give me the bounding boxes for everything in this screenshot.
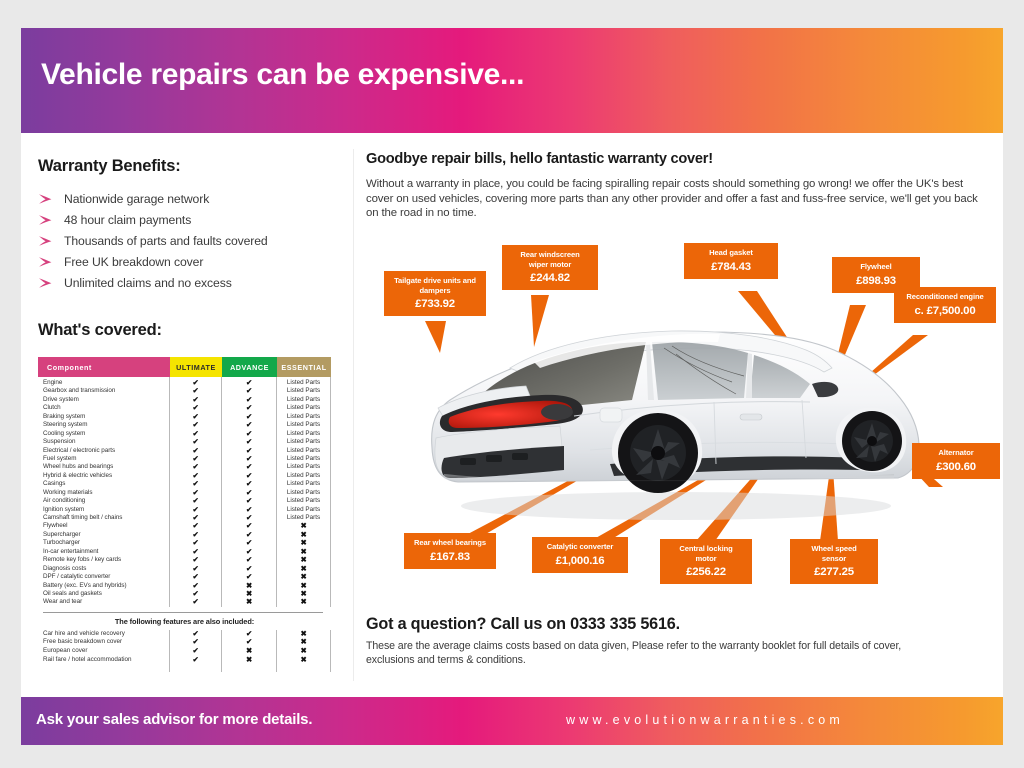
benefit-label: Unlimited claims and no excess <box>64 276 232 290</box>
callout-label: Rear windscreen wiper motor <box>511 250 589 269</box>
coverage-mark-essential: Listed Parts <box>277 472 330 480</box>
component-name: Suspension <box>38 438 169 446</box>
callout-price: £256.22 <box>669 566 743 578</box>
callout-label: Reconditioned engine <box>903 292 987 302</box>
coverage-mark-essential: Listed Parts <box>277 387 330 395</box>
extra-feature-name: Rail fare / hotel accommodation <box>38 656 169 665</box>
benefit-item-1: 48 hour claim payments <box>38 209 338 230</box>
callout-reconditioned-engine[interactable]: Reconditioned engine c. £7,500.00 <box>894 287 996 323</box>
table-header-row: Component ULTIMATE ADVANCE ESSENTIAL <box>38 357 331 377</box>
callout-label: Flywheel <box>841 262 911 272</box>
coverage-mark-essential: Listed Parts <box>277 438 330 446</box>
callout-price: £1,000.16 <box>541 555 619 567</box>
callout-label: Catalytic converter <box>541 542 619 552</box>
component-name: Working materials <box>38 489 169 497</box>
component-name: Braking system <box>38 413 169 421</box>
extra-features-block: The following features are also included… <box>38 612 331 672</box>
component-name: Wheel hubs and bearings <box>38 463 169 471</box>
callout-price: £898.93 <box>841 275 911 287</box>
left-column: Warranty Benefits: Nationwide garage net… <box>38 157 338 340</box>
component-name: Diagnosis costs <box>38 565 169 573</box>
column-header-component: Component <box>38 357 170 377</box>
extra-features-title: The following features are also included… <box>38 613 331 630</box>
extra-ultimate-column: ✔✔✔✔ <box>170 630 222 672</box>
component-name: Electrical / electronic parts <box>38 447 169 455</box>
benefit-label: Nationwide garage network <box>64 192 209 206</box>
page-title: Vehicle repairs can be expensive... <box>41 58 524 92</box>
extra-coverage-mark-advance: ✖ <box>222 656 276 665</box>
coverage-mark-advance: ✖ <box>222 598 276 606</box>
coverage-mark-essential: Listed Parts <box>277 430 330 438</box>
coverage-mark-essential: Listed Parts <box>277 447 330 455</box>
column-header-ultimate: ULTIMATE <box>170 357 222 377</box>
component-name: Clutch <box>38 404 169 412</box>
component-name: Remote key fobs / key cards <box>38 556 169 564</box>
benefit-label: 48 hour claim payments <box>64 213 191 227</box>
component-name: DPF / catalytic converter <box>38 573 169 581</box>
extra-coverage-mark-essential: ✖ <box>277 656 330 665</box>
component-name: Hybrid & electric vehicles <box>38 472 169 480</box>
right-column: Goodbye repair bills, hello fantastic wa… <box>366 151 986 221</box>
component-name: Oil seals and gaskets <box>38 590 169 598</box>
coverage-mark-essential: Listed Parts <box>277 463 330 471</box>
vertical-divider <box>353 149 354 681</box>
benefit-item-4: Unlimited claims and no excess <box>38 272 338 293</box>
callout-price: c. £7,500.00 <box>903 305 987 317</box>
advance-marks-column: ✔✔✔✔✔✔✔✔✔✔✔✔✔✔✔✔✔✔✔✔✔✔✔✔✖✖✖ <box>222 377 277 607</box>
callout-label: Wheel speed sensor <box>799 544 869 563</box>
car-parts-diagram: Tailgate drive units and dampers £733.92… <box>366 243 1004 603</box>
essential-marks-column: Listed PartsListed PartsListed PartsList… <box>277 377 331 607</box>
right-heading: Goodbye repair bills, hello fantastic wa… <box>366 151 986 167</box>
component-name: Camshaft timing belt / chains <box>38 514 169 522</box>
column-header-advance: ADVANCE <box>222 357 277 377</box>
component-name-column: EngineGearbox and transmissionDrive syst… <box>38 377 170 607</box>
extra-essential-column: ✖✖✖✖ <box>277 630 331 672</box>
poster-root: Vehicle repairs can be expensive... Warr… <box>0 0 1024 768</box>
callout-price: £733.92 <box>393 298 477 310</box>
callout-alternator[interactable]: Alternator £300.60 <box>912 443 1000 479</box>
callout-tailgate[interactable]: Tailgate drive units and dampers £733.92 <box>384 271 486 316</box>
coverage-mark-essential: Listed Parts <box>277 480 330 488</box>
benefit-label: Thousands of parts and faults covered <box>64 234 268 248</box>
extra-feature-name: Free basic breakdown cover <box>38 638 169 647</box>
callout-label: Head gasket <box>693 248 769 258</box>
coverage-mark-essential: Listed Parts <box>277 404 330 412</box>
callout-central-locking-motor[interactable]: Central locking motor £256.22 <box>660 539 752 584</box>
callout-price: £244.82 <box>511 272 589 284</box>
callout-label: Tailgate drive units and dampers <box>393 276 477 295</box>
extra-features-body: Car hire and vehicle recoveryFree basic … <box>38 630 331 672</box>
benefit-item-2: Thousands of parts and faults covered <box>38 230 338 251</box>
chevron-right-icon <box>38 277 53 289</box>
extra-feature-name: European cover <box>38 647 169 656</box>
callout-price: £300.60 <box>921 461 991 473</box>
coverage-mark-essential: Listed Parts <box>277 455 330 463</box>
component-name: Flywheel <box>38 522 169 530</box>
whats-covered-title: What's covered: <box>38 321 338 340</box>
coverage-mark-essential: Listed Parts <box>277 497 330 505</box>
callout-head-gasket[interactable]: Head gasket £784.43 <box>684 243 778 279</box>
benefit-item-3: Free UK breakdown cover <box>38 251 338 272</box>
extra-advance-column: ✔✔✖✖ <box>222 630 277 672</box>
callout-price: £784.43 <box>693 261 769 273</box>
component-name: Drive system <box>38 396 169 404</box>
car-illustration <box>414 298 934 533</box>
coverage-mark-essential: Listed Parts <box>277 489 330 497</box>
extra-coverage-mark-ultimate: ✔ <box>170 656 221 665</box>
component-name: Fuel system <box>38 455 169 463</box>
content-panel: Warranty Benefits: Nationwide garage net… <box>21 133 1003 697</box>
extra-feature-name: Car hire and vehicle recovery <box>38 630 169 639</box>
chevron-right-icon <box>38 235 53 247</box>
right-intro-paragraph: Without a warranty in place, you could b… <box>366 177 986 221</box>
chevron-right-icon <box>38 214 53 226</box>
component-name: Steering system <box>38 421 169 429</box>
ultimate-marks-column: ✔✔✔✔✔✔✔✔✔✔✔✔✔✔✔✔✔✔✔✔✔✔✔✔✔✔✔ <box>170 377 222 607</box>
benefit-label: Free UK breakdown cover <box>64 255 203 269</box>
component-name: Turbocharger <box>38 539 169 547</box>
coverage-mark-ultimate: ✔ <box>170 598 221 606</box>
coverage-mark-essential: Listed Parts <box>277 421 330 429</box>
coverage-table: Component ULTIMATE ADVANCE ESSENTIAL Eng… <box>38 357 331 672</box>
component-name: Cooling system <box>38 430 169 438</box>
benefits-list: Nationwide garage network48 hour claim p… <box>38 188 338 293</box>
cta-heading: Got a question? Call us on 0333 335 5616… <box>366 615 680 634</box>
callout-rear-windscreen-wiper-motor[interactable]: Rear windscreen wiper motor £244.82 <box>502 245 598 290</box>
component-name: Air conditioning <box>38 497 169 505</box>
footer-website-url[interactable]: www.evolutionwarranties.com <box>566 713 844 727</box>
callout-price: £277.25 <box>799 566 869 578</box>
coverage-mark-essential: Listed Parts <box>277 506 330 514</box>
component-name: Engine <box>38 379 169 387</box>
callout-label: Rear wheel bearings <box>413 538 487 548</box>
benefit-item-0: Nationwide garage network <box>38 188 338 209</box>
callout-price: £167.83 <box>413 551 487 563</box>
column-header-essential: ESSENTIAL <box>277 357 331 377</box>
cta-disclaimer: These are the average claims costs based… <box>366 639 926 667</box>
chevron-right-icon <box>38 193 53 205</box>
table-body: EngineGearbox and transmissionDrive syst… <box>38 377 331 607</box>
component-name: Wear and tear <box>38 598 169 606</box>
chevron-right-icon <box>38 256 53 268</box>
extra-feature-name-column: Car hire and vehicle recoveryFree basic … <box>38 630 170 672</box>
coverage-mark-essential: ✖ <box>277 598 330 606</box>
callout-label: Alternator <box>921 448 991 458</box>
coverage-mark-essential: Listed Parts <box>277 379 330 387</box>
component-name: Supercharger <box>38 531 169 539</box>
footer-tagline: Ask your sales advisor for more details. <box>36 711 312 728</box>
callout-wheel-speed-sensor[interactable]: Wheel speed sensor £277.25 <box>790 539 878 584</box>
callout-label: Central locking motor <box>669 544 743 563</box>
component-name: Battery (exc. EVs and hybrids) <box>38 582 169 590</box>
callout-rear-wheel-bearings[interactable]: Rear wheel bearings £167.83 <box>404 533 496 569</box>
warranty-benefits-title: Warranty Benefits: <box>38 157 338 176</box>
component-name: Casings <box>38 480 169 488</box>
component-name: Ignition system <box>38 506 169 514</box>
component-name: Gearbox and transmission <box>38 387 169 395</box>
callout-catalytic-converter[interactable]: Catalytic converter £1,000.16 <box>532 537 628 573</box>
coverage-mark-essential: Listed Parts <box>277 396 330 404</box>
coverage-mark-essential: Listed Parts <box>277 413 330 421</box>
component-name: In-car entertainment <box>38 548 169 556</box>
